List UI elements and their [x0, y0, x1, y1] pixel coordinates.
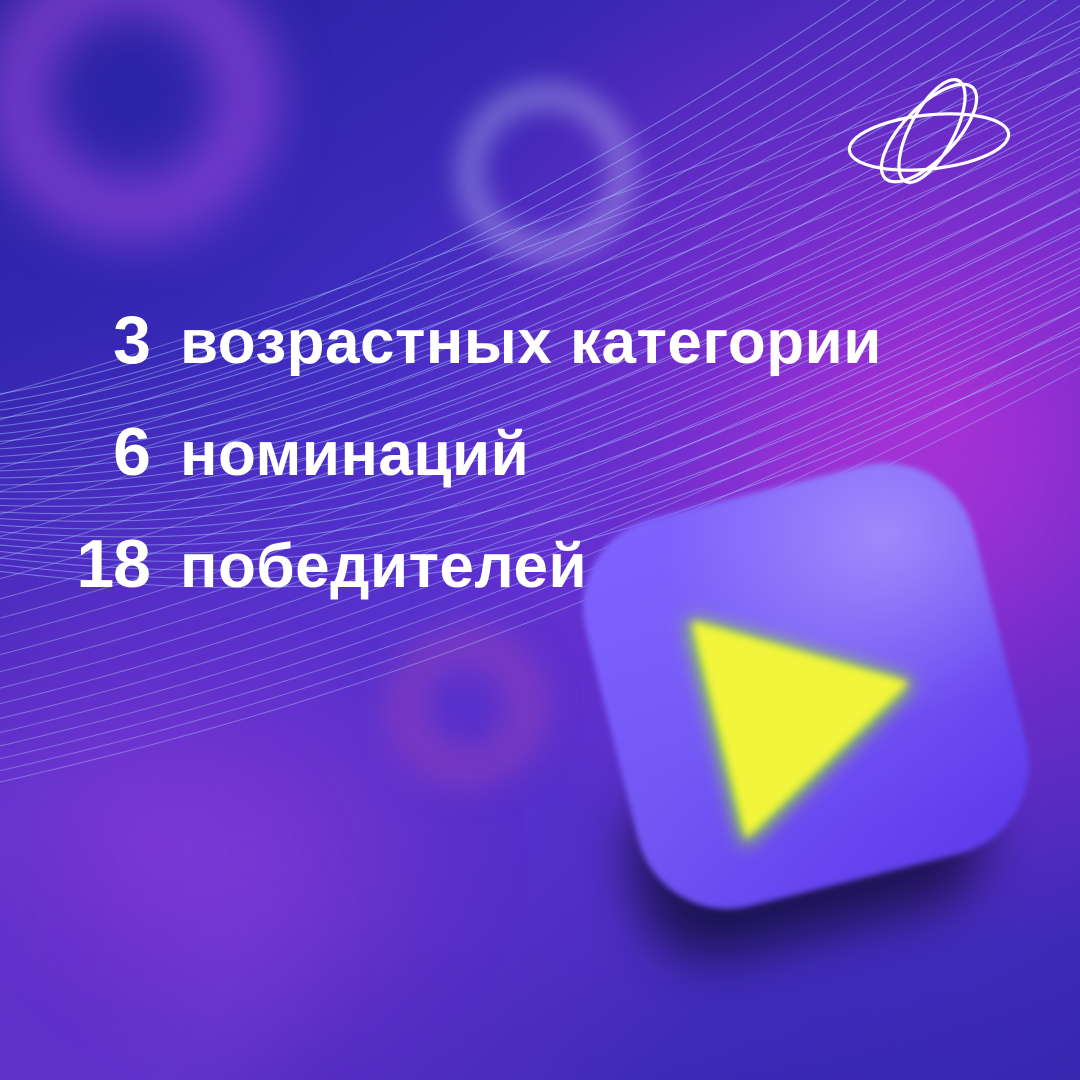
stat-number: 3 [0, 306, 150, 374]
stat-number: 6 [0, 418, 150, 486]
stat-row: 3 возрастных категории [0, 306, 900, 418]
stat-number: 18 [0, 530, 150, 598]
stat-label: возрастных категории [150, 312, 882, 374]
promo-poster: 3 возрастных категории 6 номинаций 18 по… [0, 0, 1080, 1080]
orbit-atom-emblem [836, 58, 1022, 208]
stat-label: победителей [150, 536, 587, 598]
play-button-card[interactable] [566, 454, 1080, 954]
stat-label: номинаций [150, 424, 529, 486]
